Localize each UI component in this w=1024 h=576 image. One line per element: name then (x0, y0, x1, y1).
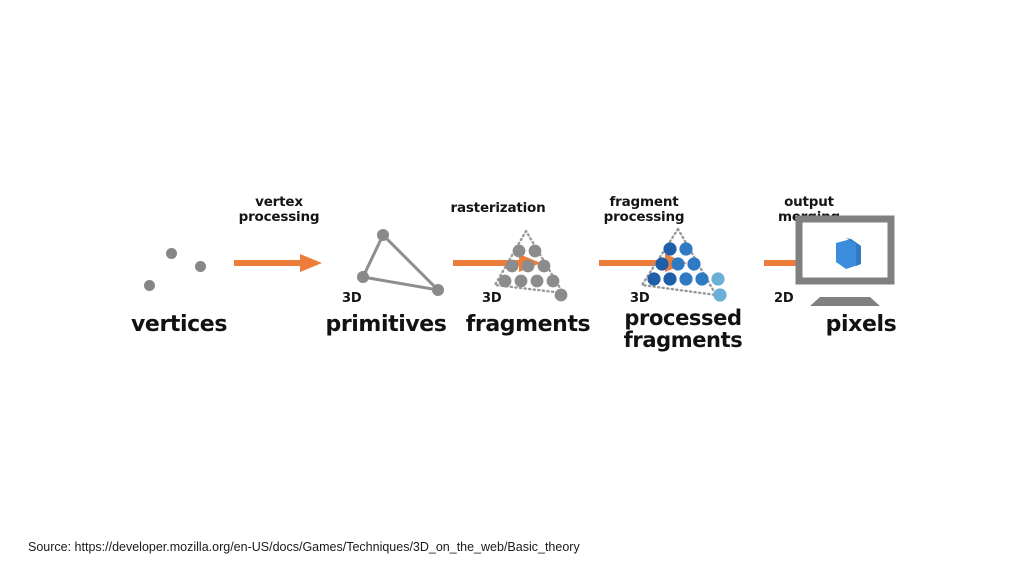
stage-label-fragments: fragments (458, 313, 598, 336)
dimension-label-3d: 3D (342, 291, 361, 306)
triangle-wireframe-glyph (316, 223, 456, 305)
right-arrow-icon (234, 254, 324, 272)
stage-pixels: 2D pixels (768, 195, 910, 370)
stage-label-line2: fragments (608, 329, 758, 351)
stage-label-line1: processed (608, 307, 758, 329)
stage-primitives: 3D primitives (316, 195, 456, 370)
slide-canvas: vertices vertex processing (0, 0, 1024, 576)
dimension-label-3d: 3D (630, 291, 649, 306)
stage-processed-fragments: 3D processed fragments (608, 195, 758, 370)
dimension-label-2d: 2D (774, 291, 793, 306)
rendering-pipeline-diagram: vertices vertex processing (120, 195, 910, 370)
vertex-dot (195, 261, 206, 272)
stage-label-processed-fragments: processed fragments (608, 307, 758, 351)
stage-label-pixels: pixels (790, 313, 932, 336)
vertex-dot (144, 280, 155, 291)
stage-label-vertices: vertices (120, 313, 238, 336)
stage-fragments: 3D fragments (458, 195, 598, 370)
stage-label-primitives: primitives (316, 313, 456, 336)
dimension-label-3d: 3D (482, 291, 501, 306)
gray-fragment-triangle-glyph (458, 223, 598, 305)
vertex-dot (166, 248, 177, 259)
source-attribution: Source: https://developer.mozilla.org/en… (28, 540, 580, 554)
